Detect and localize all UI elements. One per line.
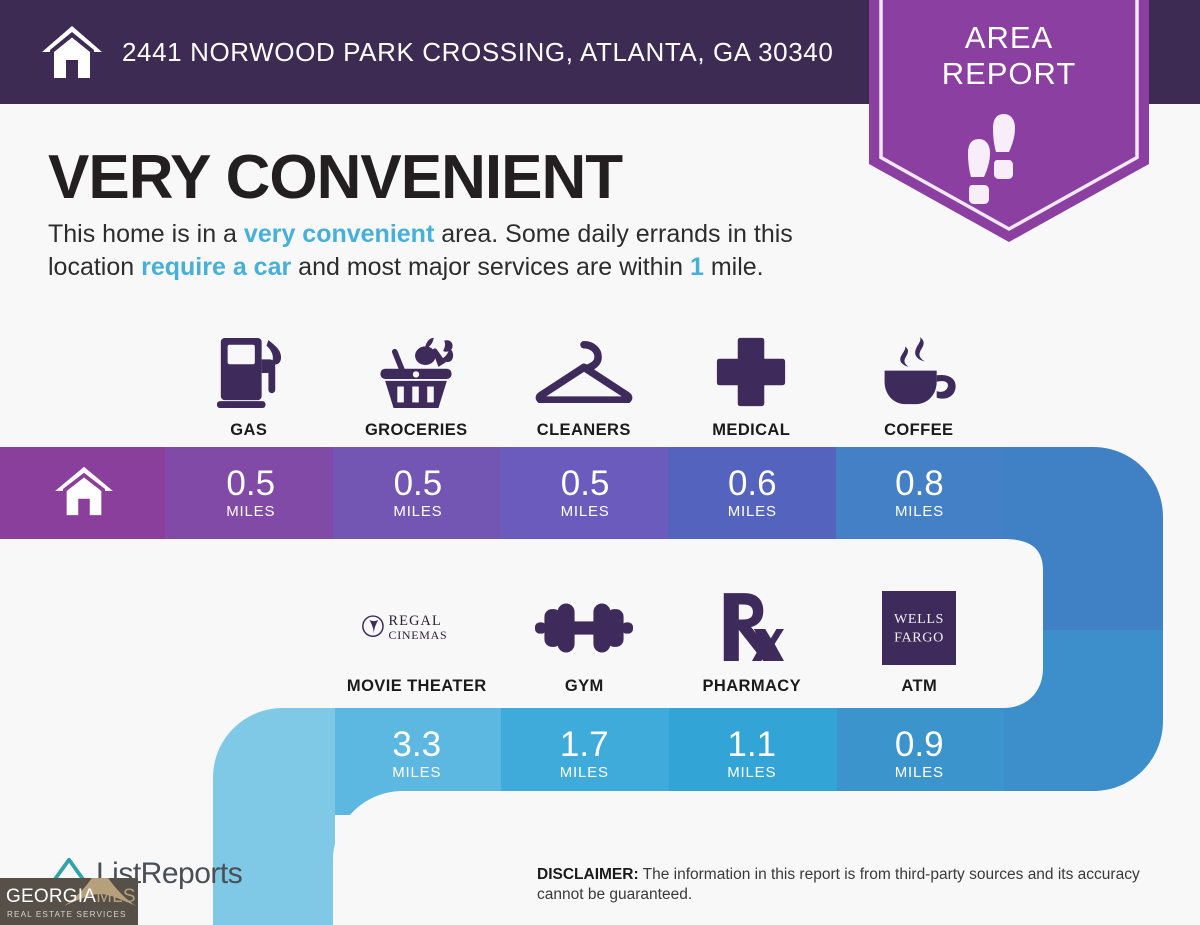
summary-highlight-1: very convenient [244, 220, 434, 248]
amenity-coffee: COFFEE [835, 318, 1003, 440]
amenity-pharmacy: PHARMACY [668, 578, 836, 696]
amenity-label: GROCERIES [365, 421, 468, 440]
distance-unit: MILES [895, 764, 944, 781]
distance-unit: MILES [895, 503, 944, 520]
amenity-icon-row-top: GAS GROCERIES [165, 318, 1170, 440]
distance-value: 3.3 [392, 727, 441, 762]
distance-cell-groceries: 0.5 MILES [334, 447, 501, 539]
page-title: VERY CONVENIENT [48, 142, 622, 213]
amenity-cleaners: CLEANERS [500, 318, 668, 440]
summary-part-3: and most major services are within [291, 253, 690, 281]
distance-value: 1.7 [560, 727, 609, 762]
distance-cell-medical: 0.6 MILES [669, 447, 836, 539]
distance-unit: MILES [226, 503, 275, 520]
badge-line-2: REPORT [859, 56, 1159, 92]
distance-unit: MILES [727, 764, 776, 781]
area-report-badge: AREA REPORT [859, 0, 1159, 244]
distance-bar-row-bottom: 3.3 MILES 1.7 MILES 1.1 MILES 0.9 MILES [333, 708, 1003, 800]
distance-unit: MILES [393, 503, 442, 520]
mls-text: MLS [96, 886, 136, 907]
distance-value: 0.5 [561, 466, 610, 501]
medical-cross-icon [715, 333, 787, 411]
grocery-basket-icon [373, 333, 459, 411]
rx-prescription-icon [720, 589, 784, 667]
summary-part-4: mile. [704, 253, 764, 281]
amenity-gas: GAS [165, 318, 333, 440]
clothes-hanger-icon [534, 333, 634, 411]
disclaimer-label: DISCLAIMER: [537, 866, 639, 883]
amenity-label: ATM [901, 677, 937, 696]
distance-bar-row-top: 0.5 MILES 0.5 MILES 0.5 MILES 0.6 MILES … [0, 447, 1003, 539]
gas-pump-icon [215, 333, 283, 411]
georgia-mls-name: GEORGIAMLS [6, 886, 136, 908]
summary-highlight-2: require a car [141, 253, 291, 281]
amenity-groceries: GROCERIES [333, 318, 501, 440]
amenity-label: CLEANERS [537, 421, 631, 440]
georgia-mls-tagline: REAL ESTATE SERVICES [7, 910, 127, 919]
coffee-cup-icon [879, 333, 959, 411]
distance-cell-pharmacy: 1.1 MILES [668, 708, 836, 800]
distance-value: 0.9 [895, 727, 944, 762]
distance-value: 0.5 [226, 466, 275, 501]
distance-value: 0.5 [394, 466, 443, 501]
summary-part-1: This home is in a [48, 220, 244, 248]
amenity-label: GYM [565, 677, 604, 696]
svg-text:FARGO: FARGO [894, 630, 944, 646]
area-report-infographic: 2441 NORWOOD PARK CROSSING, ATLANTA, GA … [0, 0, 1200, 925]
home-marker-cell [0, 447, 167, 539]
distance-cell-gas: 0.5 MILES [167, 447, 334, 539]
badge-label: AREA REPORT [859, 20, 1159, 92]
amenity-icon-row-bottom: REGAL CINEMAS MOVIE THEATER GYM [333, 578, 1171, 696]
amenity-medical: MEDICAL [668, 318, 836, 440]
svg-text:WELLS: WELLS [894, 611, 944, 627]
svg-text:CINEMAS: CINEMAS [388, 628, 447, 642]
amenity-label: GAS [230, 421, 267, 440]
amenity-label: MOVIE THEATER [347, 677, 487, 696]
distance-unit: MILES [728, 503, 777, 520]
distance-cell-coffee: 0.8 MILES [836, 447, 1003, 539]
summary-text: This home is in a very convenient area. … [48, 218, 878, 284]
summary-highlight-3: 1 [690, 253, 704, 281]
amenity-label: COFFEE [884, 421, 953, 440]
distance-cell-atm: 0.9 MILES [836, 708, 1004, 800]
home-icon [53, 465, 115, 522]
amenity-movie-theater: REGAL CINEMAS MOVIE THEATER [333, 578, 501, 696]
badge-line-1: AREA [859, 20, 1159, 56]
regal-cinemas-logo: REGAL CINEMAS [361, 589, 473, 667]
distance-unit: MILES [392, 764, 441, 781]
distance-unit: MILES [560, 764, 609, 781]
georgia-mls-watermark: GEORGIAMLS REAL ESTATE SERVICES [0, 878, 138, 925]
svg-text:REGAL: REGAL [388, 613, 441, 629]
distance-unit: MILES [561, 503, 610, 520]
property-address: 2441 NORWOOD PARK CROSSING, ATLANTA, GA … [122, 37, 833, 68]
distance-value: 0.6 [728, 466, 777, 501]
distance-value: 0.8 [895, 466, 944, 501]
wells-fargo-logo: WELLS FARGO [882, 589, 956, 667]
distance-value: 1.1 [727, 727, 776, 762]
amenity-label: PHARMACY [702, 677, 801, 696]
home-icon [40, 24, 104, 80]
amenity-label: MEDICAL [712, 421, 790, 440]
dumbbell-icon [535, 589, 633, 667]
distance-cell-movie-theater: 3.3 MILES [333, 708, 501, 800]
georgia-text: GEORGIA [6, 886, 96, 907]
distance-cell-cleaners: 0.5 MILES [502, 447, 669, 539]
distance-cell-gym: 1.7 MILES [501, 708, 669, 800]
disclaimer: DISCLAIMER: The information in this repo… [537, 865, 1187, 905]
amenity-gym: GYM [501, 578, 669, 696]
amenity-atm: WELLS FARGO ATM [836, 578, 1004, 696]
